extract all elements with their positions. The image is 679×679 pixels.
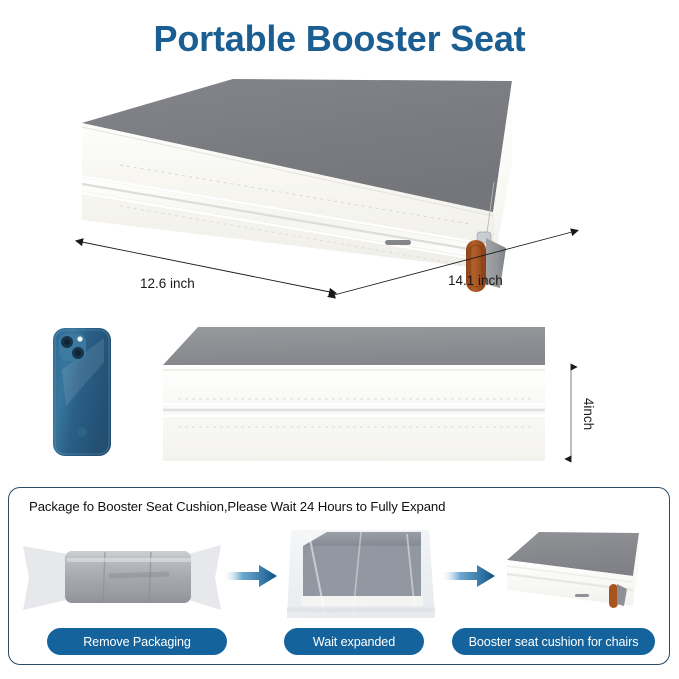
dimension-label-width: 12.6 inch [140, 276, 195, 291]
step-3-image [507, 532, 639, 608]
dimension-line-width [82, 242, 330, 292]
cushion-side-profile [163, 327, 545, 460]
dimension-label-height: 4inch [581, 398, 596, 430]
camera-lens-bottom-inner [75, 350, 81, 356]
package-caption: Package fo Booster Seat Cushion,Please W… [29, 499, 445, 514]
final-cushion-side-tag [575, 594, 589, 597]
package-wrap-left-tail [23, 546, 67, 610]
cushion-side-top-face [163, 327, 545, 365]
product-infographic: Portable Booster Seat [0, 0, 679, 679]
camera-lens-top-inner [64, 339, 70, 345]
step-2-image [287, 530, 435, 618]
arrow-icon-2 [441, 565, 495, 587]
hero-product-illustration: 12.6 inch 14.1 inch [0, 70, 679, 310]
step-1-image [23, 545, 221, 610]
step-button-booster-seat-cushion[interactable]: Booster seat cushion for chairs [452, 628, 655, 655]
iphone-for-scale [53, 328, 111, 456]
final-cushion-leather-pull [609, 584, 618, 608]
bagged-cushion-white-edge [301, 596, 423, 606]
page-title: Portable Booster Seat [0, 18, 679, 60]
package-roll-label-smudge [109, 574, 169, 576]
package-wrap-right-tail [189, 545, 221, 610]
side-handle-tag [385, 240, 411, 245]
step-button-remove-packaging[interactable]: Remove Packaging [47, 628, 227, 655]
arrow-step1-to-step2 [223, 565, 277, 587]
packaging-steps-illustrations [9, 518, 671, 630]
step-button-wait-expanded[interactable]: Wait expanded [284, 628, 424, 655]
camera-flash [77, 336, 82, 341]
side-view-illustration: 4inch [0, 310, 679, 480]
dimension-label-depth: 14.1 inch [448, 273, 503, 288]
step-button-row: Remove Packaging Wait expanded Booster s… [9, 628, 671, 662]
height-dimension-annotation: 4inch [571, 367, 596, 459]
phone-logo [77, 427, 87, 437]
package-instructions-panel: Package fo Booster Seat Cushion,Please W… [8, 487, 670, 665]
arrow-step2-to-step3 [441, 565, 495, 587]
arrow-icon-1 [223, 565, 277, 587]
